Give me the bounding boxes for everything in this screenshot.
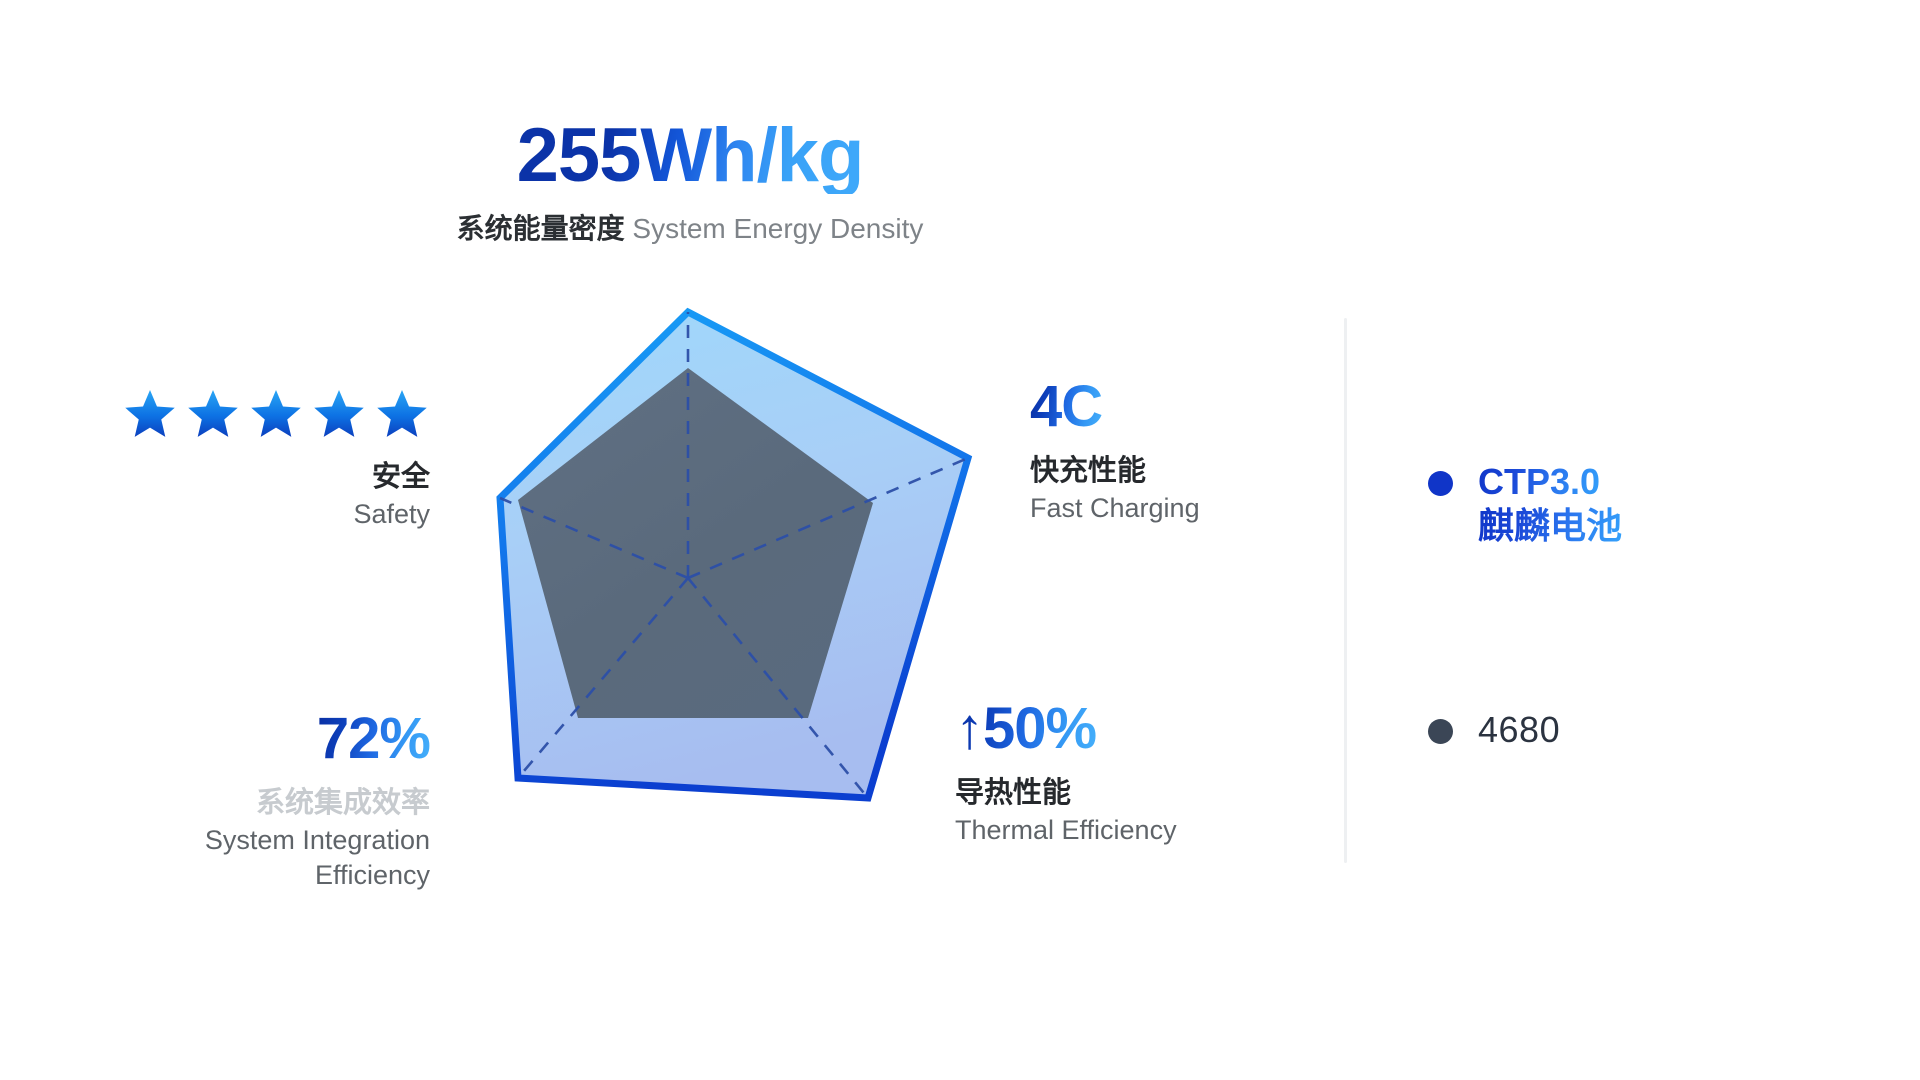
header-block: 255Wh/kg 系统能量密度 System Energy Density	[0, 118, 1380, 245]
safety-label-cn: 安全	[0, 458, 430, 497]
fast-charging-value: 4C	[1030, 378, 1102, 436]
metric-safety: 安全 Safety	[0, 388, 430, 532]
legend-label-ctp30-line1: CTP3.0	[1478, 461, 1600, 502]
metric-fast-charging: 4C 快充性能 Fast Charging	[1030, 378, 1450, 526]
fast-charging-label-en: Fast Charging	[1030, 491, 1450, 526]
legend-label-4680: 4680	[1478, 708, 1560, 752]
safety-star-rating	[0, 388, 430, 442]
system-integration-label-en-line2: Efficiency	[0, 858, 430, 893]
system-integration-label-cn: 系统集成效率	[0, 784, 430, 823]
energy-density-label: 系统能量密度 System Energy Density	[0, 214, 1380, 245]
system-integration-label-en-line1: System Integration	[0, 823, 430, 858]
star-icon	[374, 388, 430, 442]
safety-label-en: Safety	[0, 497, 430, 532]
metric-system-integration-efficiency: 72% 系统集成效率 System Integration Efficiency	[0, 710, 430, 893]
legend-dot-4680	[1428, 719, 1453, 744]
system-integration-value: 72%	[317, 710, 430, 768]
vertical-divider	[1344, 318, 1347, 863]
legend-dot-ctp30	[1428, 471, 1453, 496]
fast-charging-label-cn: 快充性能	[1030, 452, 1450, 491]
thermal-efficiency-label-en: Thermal Efficiency	[955, 813, 1385, 848]
energy-density-label-en: System Energy Density	[632, 213, 923, 244]
infographic-root: 255Wh/kg 系统能量密度 System Energy Density 安全…	[0, 0, 1920, 1080]
star-icon	[248, 388, 304, 442]
legend-label-ctp30-line2: 麒麟电池	[1478, 505, 1622, 546]
legend-label-ctp30: CTP3.0 麒麟电池	[1478, 460, 1622, 548]
energy-density-label-cn: 系统能量密度	[457, 213, 625, 244]
star-icon	[122, 388, 178, 442]
legend-item-4680[interactable]: 4680	[1428, 708, 1560, 752]
star-icon	[311, 388, 367, 442]
thermal-efficiency-label-cn: 导热性能	[955, 774, 1385, 813]
energy-density-value: 255Wh/kg	[517, 118, 864, 194]
metric-thermal-efficiency: ↑50% 导热性能 Thermal Efficiency	[955, 700, 1385, 848]
legend-item-ctp30[interactable]: CTP3.0 麒麟电池	[1428, 460, 1622, 548]
star-icon	[185, 388, 241, 442]
thermal-efficiency-value: ↑50%	[955, 700, 1096, 758]
